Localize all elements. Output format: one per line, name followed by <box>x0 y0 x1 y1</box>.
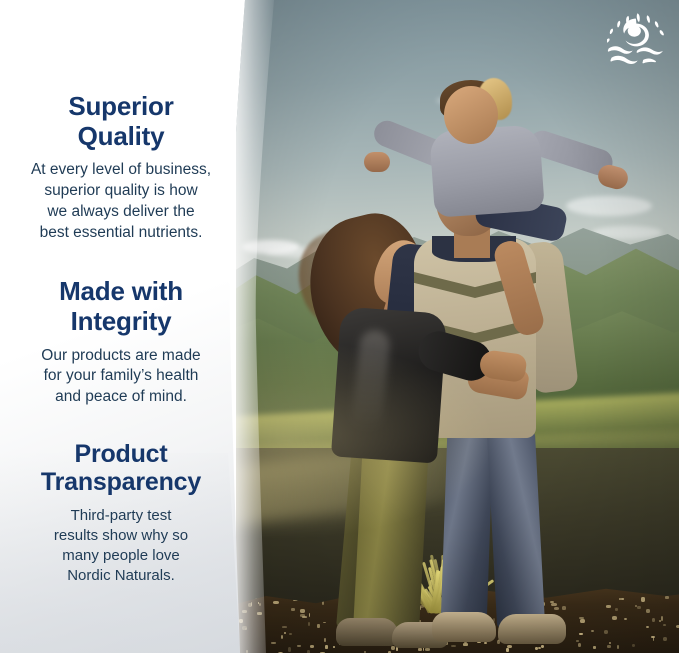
value-body: Our products are made for your family’s … <box>14 346 228 408</box>
child-hand <box>596 162 631 191</box>
value-heading: Made with Integrity <box>14 277 228 336</box>
mother-trouser-leg <box>353 438 429 633</box>
child-hand <box>364 152 390 172</box>
value-block-product-transparency: Product Transparency Third-party test re… <box>14 440 228 586</box>
father-shoe <box>432 612 496 642</box>
value-body: Third-party test results show why so man… <box>14 506 228 586</box>
father-shoe <box>498 614 566 644</box>
brand-values-banner: Superior Quality At every level of busin… <box>0 0 679 653</box>
value-heading: Product Transparency <box>14 440 228 497</box>
mother-shoe <box>336 618 398 646</box>
value-block-superior-quality: Superior Quality At every level of busin… <box>14 92 228 243</box>
child-face <box>444 86 498 144</box>
value-heading: Superior Quality <box>14 92 228 151</box>
family-lifestyle-photo <box>236 0 679 653</box>
value-block-made-with-integrity: Made with Integrity Our products are mad… <box>14 277 228 408</box>
family-figures <box>236 0 679 653</box>
value-props-column: Superior Quality At every level of busin… <box>0 0 242 653</box>
value-body: At every level of business, superior qua… <box>14 160 228 243</box>
father-jeans-leg <box>487 429 545 629</box>
father-jeans-leg <box>441 429 494 626</box>
sun-wave-logo-icon <box>607 12 665 64</box>
mother-leather-jacket <box>331 306 447 463</box>
